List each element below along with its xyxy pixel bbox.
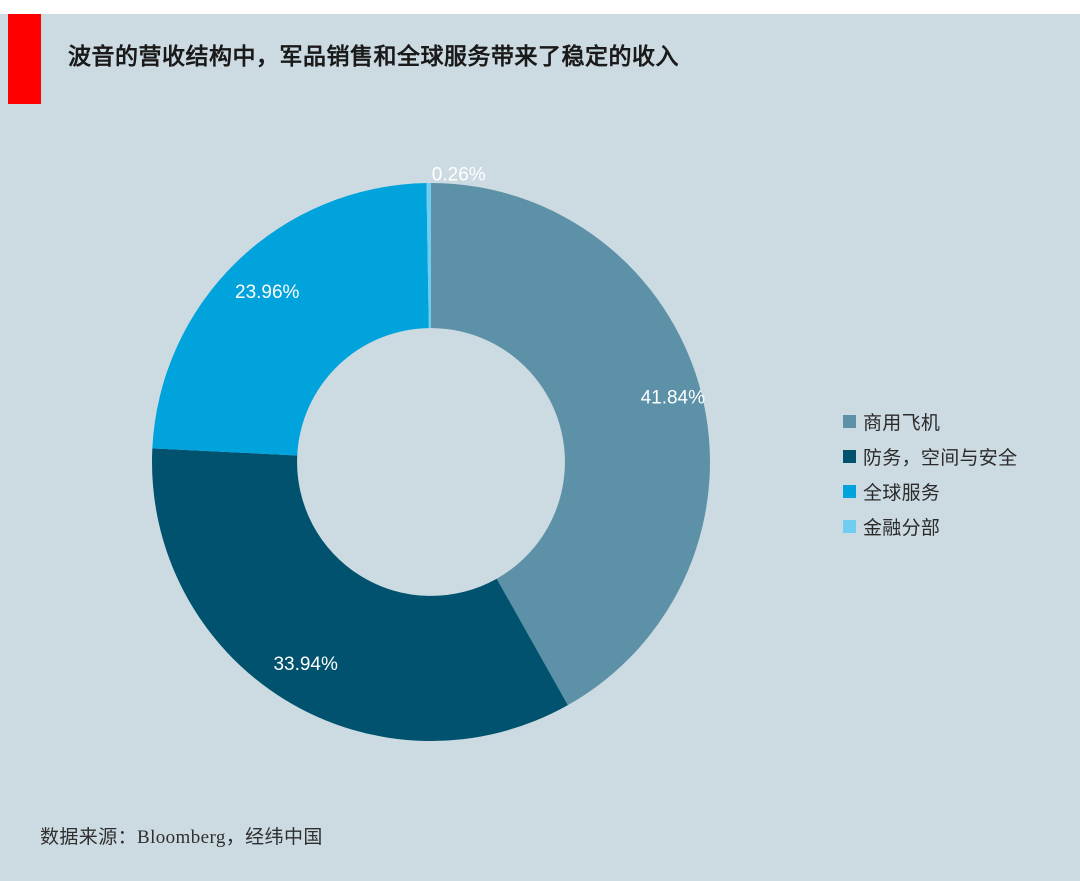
legend-label-defense-space-security: 防务，空间与安全 <box>863 443 1017 470</box>
source-note: 数据来源：Bloomberg，经纬中国 <box>40 822 323 849</box>
legend-item-commercial-airplanes[interactable]: 商用飞机 <box>843 404 1073 439</box>
donut-slice[interactable] <box>152 183 428 455</box>
legend-swatch-commercial-airplanes <box>843 415 856 428</box>
legend-swatch-defense-space-security <box>843 450 856 463</box>
legend-swatch-boeing-capital <box>843 520 856 533</box>
slide-root: 波音的营收结构中，军品销售和全球服务带来了稳定的收入 41.84%33.94%2… <box>0 0 1080 881</box>
donut-slice-label: 23.96% <box>235 282 300 303</box>
chart-legend: 商用飞机 防务，空间与安全 全球服务 金融分部 <box>843 404 1073 544</box>
legend-item-boeing-capital[interactable]: 金融分部 <box>843 509 1073 544</box>
donut-slice-group <box>152 183 710 741</box>
legend-item-defense-space-security[interactable]: 防务，空间与安全 <box>843 439 1073 474</box>
donut-slice-label: 33.94% <box>273 654 338 675</box>
legend-label-global-services: 全球服务 <box>863 478 940 505</box>
legend-label-boeing-capital: 金融分部 <box>863 513 940 540</box>
donut-slice[interactable] <box>152 448 568 741</box>
legend-item-global-services[interactable]: 全球服务 <box>843 474 1073 509</box>
donut-slice-label: 41.84% <box>641 388 706 409</box>
donut-slice-label: 0.26% <box>432 165 486 186</box>
legend-swatch-global-services <box>843 485 856 498</box>
legend-label-commercial-airplanes: 商用飞机 <box>863 408 940 435</box>
